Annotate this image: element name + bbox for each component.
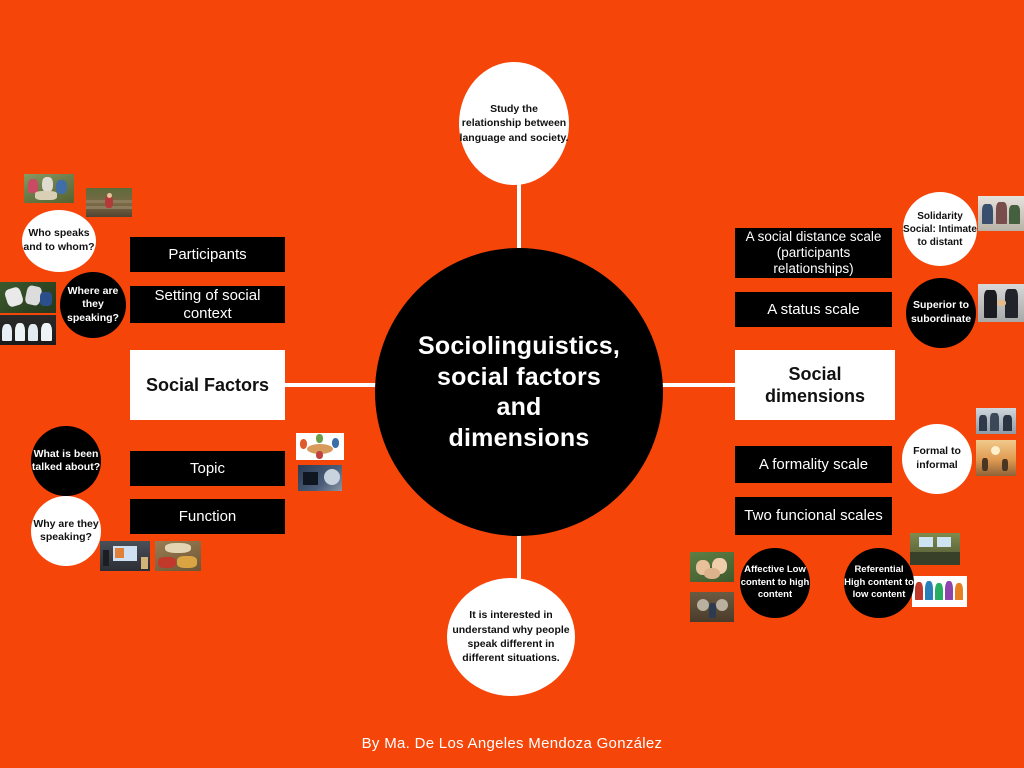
bubble-solidarity-social[interactable]: Solidarity Social: Intimate to distant [903, 192, 977, 266]
box-formality-label: A formality scale [759, 456, 868, 474]
central-line-2: social factors [437, 363, 601, 391]
node-interested-why[interactable]: It is interested in understand why peopl… [447, 578, 575, 696]
central-topic-node[interactable]: Sociolinguistics, social factors and dim… [375, 248, 663, 536]
bubble-superior-to-subordinate[interactable]: Superior to subordinate [906, 278, 976, 348]
bubble-who-label: Who speaks and to whom? [22, 227, 96, 254]
photo-conference-hall [910, 533, 960, 565]
bubble-affective-label: Affective Low content to high content [740, 564, 810, 602]
node-study-relationship[interactable]: Study the relationship between language … [459, 62, 569, 185]
box-setting-label: Setting of social context [136, 287, 279, 322]
box-setting-of-social-context[interactable]: Setting of social context [130, 286, 285, 323]
bubble-why-are-they-speaking[interactable]: Why are they speaking? [31, 496, 101, 566]
box-social-distance-label: A social distance scale (participants re… [741, 229, 886, 277]
bubble-who-speaks-to-whom[interactable]: Who speaks and to whom? [22, 210, 96, 272]
bubble-what-is-been-talked-about[interactable]: What is been talked about? [31, 426, 101, 496]
central-line-1: Sociolinguistics, [418, 332, 620, 360]
box-social-dimensions[interactable]: Social dimensions [735, 350, 895, 420]
photo-formal-group [976, 408, 1016, 434]
photo-meeting-illustration [296, 433, 344, 460]
connector-bottom [517, 530, 521, 582]
photo-sports-team [0, 282, 56, 313]
footer-credit: By Ma. De Los Angeles Mendoza González [0, 735, 1024, 752]
box-social-factors[interactable]: Social Factors [130, 350, 285, 420]
bubble-formal-to-informal[interactable]: Formal to informal [902, 424, 972, 494]
box-topic[interactable]: Topic [130, 451, 285, 486]
photo-business-handshake [978, 284, 1024, 322]
box-social-factors-label: Social Factors [146, 374, 269, 397]
connector-top [517, 182, 521, 254]
box-two-functional-scales[interactable]: Two funcional scales [735, 497, 892, 535]
connector-right [658, 383, 738, 387]
photo-studio-equipment [298, 465, 342, 491]
node-interested-label: It is interested in understand why peopl… [447, 608, 575, 665]
photo-hands-together [690, 552, 734, 582]
mindmap-canvas: Study the relationship between language … [0, 0, 1024, 768]
bubble-superior-label: Superior to subordinate [906, 299, 976, 326]
node-study-label: Study the relationship between language … [459, 102, 569, 145]
bubble-referential-label: Referential High content to low content [844, 564, 914, 602]
central-line-4: dimensions [449, 424, 590, 452]
box-formality-scale[interactable]: A formality scale [735, 446, 892, 483]
box-participants-label: Participants [168, 246, 246, 264]
bubble-what-label: What is been talked about? [31, 448, 101, 474]
box-topic-label: Topic [190, 460, 225, 478]
bubble-formal-label: Formal to informal [902, 445, 972, 472]
bubble-solidarity-label: Solidarity Social: Intimate to distant [903, 210, 977, 249]
bubble-where-label: Where are they speaking? [60, 285, 126, 324]
photo-beach-sunset [976, 440, 1016, 476]
box-participants[interactable]: Participants [130, 237, 285, 272]
box-social-dimensions-label: Social dimensions [741, 363, 889, 408]
photo-school-children [0, 315, 56, 345]
box-functional-label: Two funcional scales [744, 507, 882, 525]
box-social-distance-scale[interactable]: A social distance scale (participants re… [735, 228, 892, 278]
photo-office-workers [978, 196, 1024, 231]
box-status-scale[interactable]: A status scale [735, 292, 892, 327]
photo-crowd-people [912, 576, 967, 607]
box-function[interactable]: Function [130, 499, 285, 534]
bubble-affective-low-to-high-content[interactable]: Affective Low content to high content [740, 548, 810, 618]
box-function-label: Function [179, 508, 237, 526]
photo-market-stall [155, 541, 201, 571]
photo-child-bench [86, 188, 132, 217]
bubble-why-label: Why are they speaking? [31, 518, 101, 544]
central-topic-label: Sociolinguistics, social factors and dim… [418, 331, 620, 453]
photo-classroom-presentation [100, 541, 150, 571]
connector-left [285, 383, 380, 387]
photo-children-ground [24, 174, 74, 203]
bubble-where-are-they-speaking[interactable]: Where are they speaking? [60, 272, 126, 338]
box-status-label: A status scale [767, 301, 860, 319]
central-line-3: and [496, 393, 541, 421]
photo-courtroom-scales [690, 592, 734, 622]
bubble-referential-high-to-low-content[interactable]: Referential High content to low content [844, 548, 914, 618]
